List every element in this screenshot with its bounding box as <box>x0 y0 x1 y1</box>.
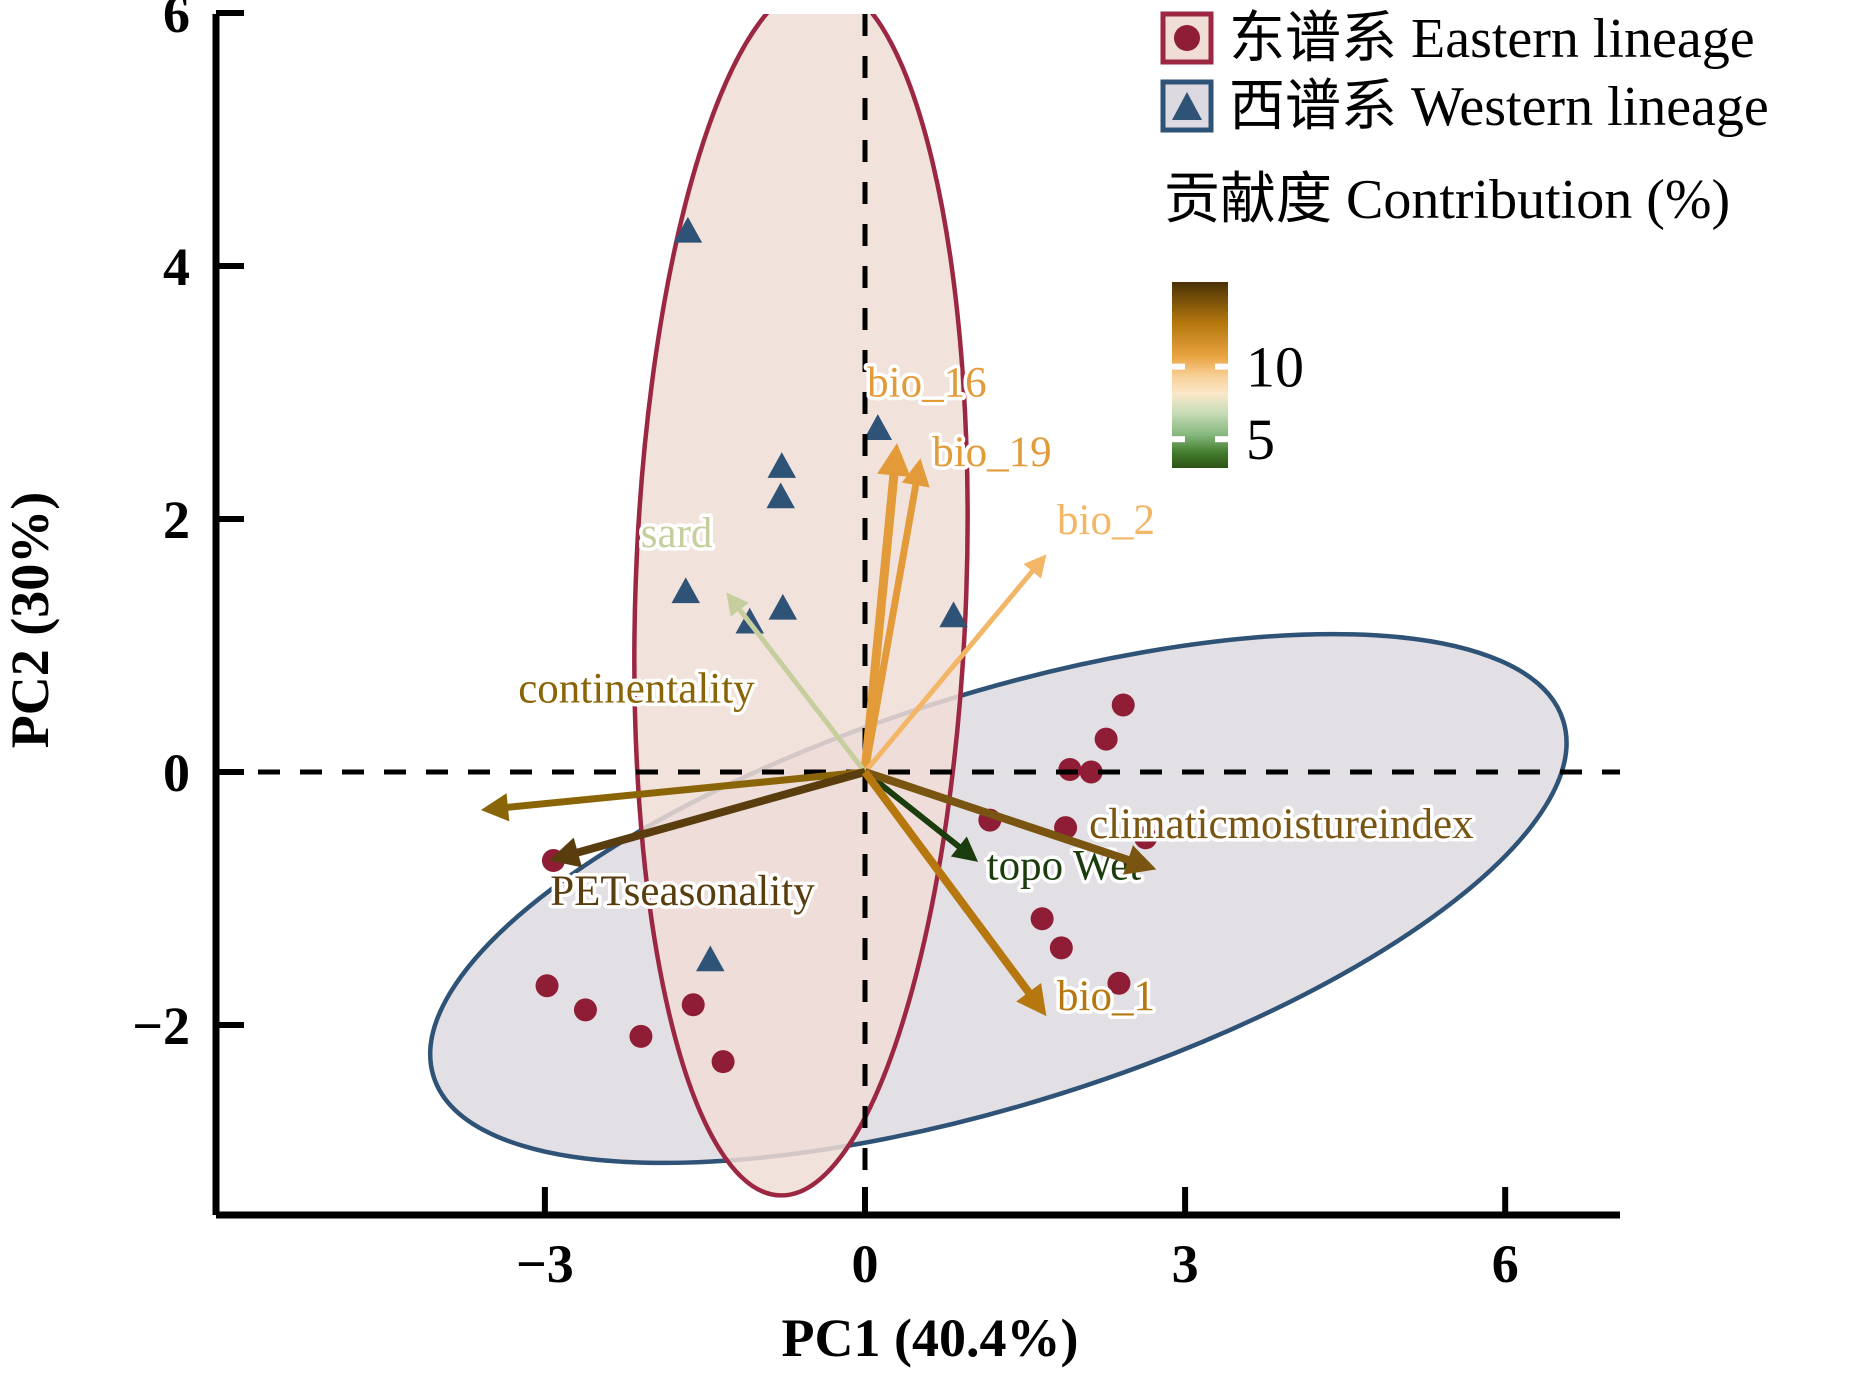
data-point-eastern <box>1058 758 1081 781</box>
data-point-eastern <box>682 993 705 1016</box>
variable-arrow-label: bio_16 <box>867 359 986 406</box>
legend-item[interactable]: 东谱系 Eastern lineage <box>1163 8 1755 70</box>
variable-arrow-label: continentality <box>518 665 755 712</box>
colorbar-tick-label: 5 <box>1246 407 1275 472</box>
data-point-eastern <box>629 1025 652 1048</box>
x-tick-label: 3 <box>1172 1234 1199 1294</box>
y-tick-label: 4 <box>163 237 190 297</box>
figure-canvas: −30366420−2 bio_16bio_19bio_2sardcontine… <box>0 0 1856 1385</box>
data-point-eastern <box>1095 728 1118 751</box>
variable-arrow-label: topo Wet <box>987 843 1142 890</box>
legend-item[interactable]: 西谱系 Western lineage <box>1163 76 1769 138</box>
x-tick-label: 6 <box>1492 1234 1519 1294</box>
colorbar-tick-label: 10 <box>1246 335 1304 400</box>
y-tick-label: 6 <box>163 0 190 44</box>
variable-arrow-label: bio_19 <box>932 429 1051 476</box>
data-point-eastern <box>574 998 597 1021</box>
variable-arrow-label: bio_1 <box>1057 973 1155 1020</box>
variable-arrow-label: sard <box>641 510 713 557</box>
pca-biplot-figure: −30366420−2 bio_16bio_19bio_2sardcontine… <box>0 0 1856 1385</box>
data-point-eastern <box>1112 693 1135 716</box>
legend-item-label: 西谱系 Western lineage <box>1229 76 1769 138</box>
data-point-eastern <box>1031 907 1054 930</box>
x-axis-title: PC1 (40.4%) <box>782 1308 1079 1368</box>
y-axis-title: PC2 (30%) <box>0 492 60 748</box>
y-tick-label: −2 <box>132 996 190 1056</box>
variable-arrow-label: bio_2 <box>1057 497 1155 544</box>
legend-circle-marker <box>1174 25 1200 51</box>
x-tick-label: 0 <box>852 1234 879 1294</box>
data-point-eastern <box>712 1050 735 1073</box>
x-tick-label: −3 <box>516 1234 574 1294</box>
y-tick-label: 0 <box>163 743 190 803</box>
data-point-eastern <box>1050 936 1073 959</box>
variable-arrow-label: PETseasonality <box>550 868 815 915</box>
colorbar-title: 贡献度 Contribution (%) <box>1164 169 1730 231</box>
data-point-eastern <box>536 974 559 997</box>
legend-item-label: 东谱系 Eastern lineage <box>1229 8 1755 70</box>
variable-arrow-label: climaticmoistureindex <box>1089 801 1474 848</box>
y-tick-label: 2 <box>163 490 190 550</box>
